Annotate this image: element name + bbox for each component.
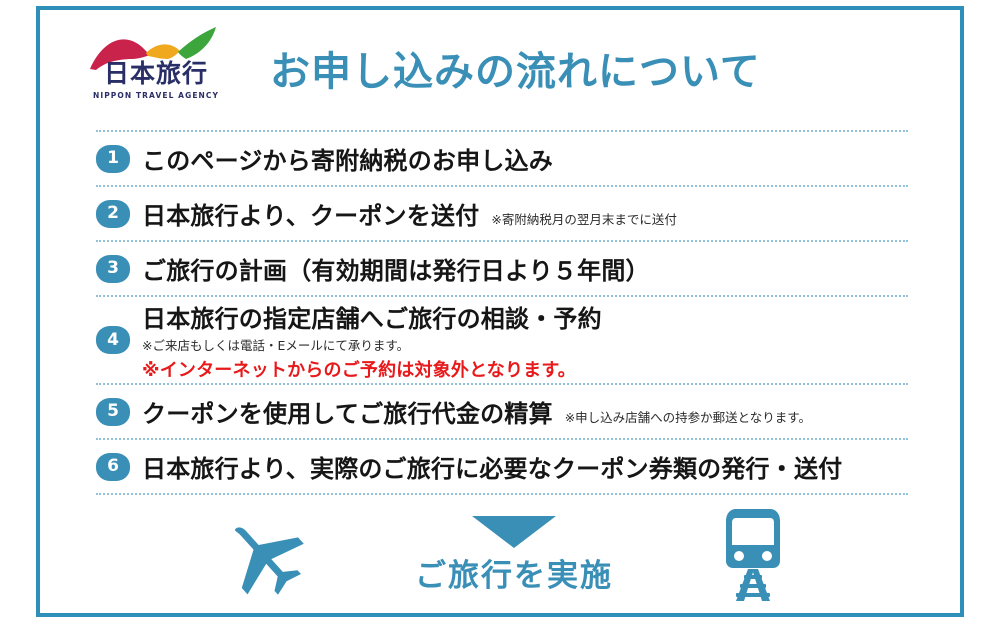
step-title: 日本旅行より、実際のご旅行に必要なクーポン券類の発行・送付 — [142, 449, 842, 484]
step-row: 6 日本旅行より、実際のご旅行に必要なクーポン券類の発行・送付 — [96, 440, 908, 493]
step-subnote: ※ご来店もしくは電話・Eメールにて承ります。 — [142, 335, 908, 354]
step-note: ※申し込み店舗への持参か郵送となります。 — [565, 407, 811, 426]
nippon-travel-agency-logo: 日本旅行 NIPPON TRAVEL AGENCY — [86, 25, 226, 111]
step-number-badge: 5 — [96, 398, 130, 426]
step-row: 1 このページから寄附納税のお申し込み — [96, 132, 908, 185]
page-title: お申し込みの流れについて — [270, 39, 761, 97]
step-warning: ※インターネットからのご予約は対象外となります。 — [142, 356, 908, 382]
airplane-icon — [220, 512, 306, 598]
step-main-line: 日本旅行より、クーポンを送付 ※寄附納税月の翌月末までに送付 — [142, 196, 908, 231]
step-title: 日本旅行より、クーポンを送付 — [142, 196, 479, 231]
separator — [96, 493, 908, 495]
train-icon — [722, 507, 784, 603]
step-note: ※寄附納税月の翌月末までに送付 — [491, 209, 676, 228]
step-row: 4 日本旅行の指定店舗へご旅行の相談・予約 ※ご来店もしくは電話・Eメールにて承… — [96, 297, 908, 383]
logo-roman-text: NIPPON TRAVEL AGENCY — [86, 91, 226, 100]
step-main-line: クーポンを使用してご旅行代金の精算 ※申し込み店舗への持参か郵送となります。 — [142, 394, 908, 429]
logo-kanji-text: 日本旅行 — [92, 61, 220, 86]
step-body: このページから寄附納税のお申し込み — [142, 141, 908, 176]
step-main-line: ご旅行の計画（有効期間は発行日より５年間） — [142, 251, 908, 286]
step-body: 日本旅行の指定店舗へご旅行の相談・予約 ※ご来店もしくは電話・Eメールにて承りま… — [142, 299, 908, 382]
step-title: ご旅行の計画（有効期間は発行日より５年間） — [142, 251, 650, 286]
poster-root: 日本旅行 NIPPON TRAVEL AGENCY お申し込みの流れについて 1… — [0, 0, 1000, 621]
steps-list: 1 このページから寄附納税のお申し込み 2 日本旅行より、クーポンを送付 ※寄附… — [96, 130, 908, 495]
step-number-badge: 4 — [96, 326, 130, 354]
step-title: このページから寄附納税のお申し込み — [142, 141, 553, 176]
footer-label: ご旅行を実施 — [415, 550, 613, 595]
step-body: 日本旅行より、クーポンを送付 ※寄附納税月の翌月末までに送付 — [142, 196, 908, 231]
step-number-badge: 2 — [96, 200, 130, 228]
step-row: 3 ご旅行の計画（有効期間は発行日より５年間） — [96, 242, 908, 295]
step-number-badge: 6 — [96, 453, 130, 481]
step-number-badge: 1 — [96, 145, 130, 173]
footer-center: ご旅行を実施 — [364, 516, 664, 595]
footer: ご旅行を実施 — [96, 500, 908, 610]
step-main-line: このページから寄附納税のお申し込み — [142, 141, 908, 176]
step-title: クーポンを使用してご旅行代金の精算 — [142, 394, 553, 429]
step-title: 日本旅行の指定店舗へご旅行の相談・予約 — [142, 299, 602, 334]
arrow-down-icon — [472, 516, 556, 548]
step-row: 5 クーポンを使用してご旅行代金の精算 ※申し込み店舗への持参か郵送となります。 — [96, 385, 908, 438]
step-body: クーポンを使用してご旅行代金の精算 ※申し込み店舗への持参か郵送となります。 — [142, 394, 908, 429]
step-body: 日本旅行より、実際のご旅行に必要なクーポン券類の発行・送付 — [142, 449, 908, 484]
step-row: 2 日本旅行より、クーポンを送付 ※寄附納税月の翌月末までに送付 — [96, 187, 908, 240]
header: 日本旅行 NIPPON TRAVEL AGENCY お申し込みの流れについて — [44, 16, 954, 120]
step-number-badge: 3 — [96, 255, 130, 283]
step-main-line: 日本旅行より、実際のご旅行に必要なクーポン券類の発行・送付 — [142, 449, 908, 484]
step-body: ご旅行の計画（有効期間は発行日より５年間） — [142, 251, 908, 286]
step-main-line: 日本旅行の指定店舗へご旅行の相談・予約 — [142, 299, 908, 334]
